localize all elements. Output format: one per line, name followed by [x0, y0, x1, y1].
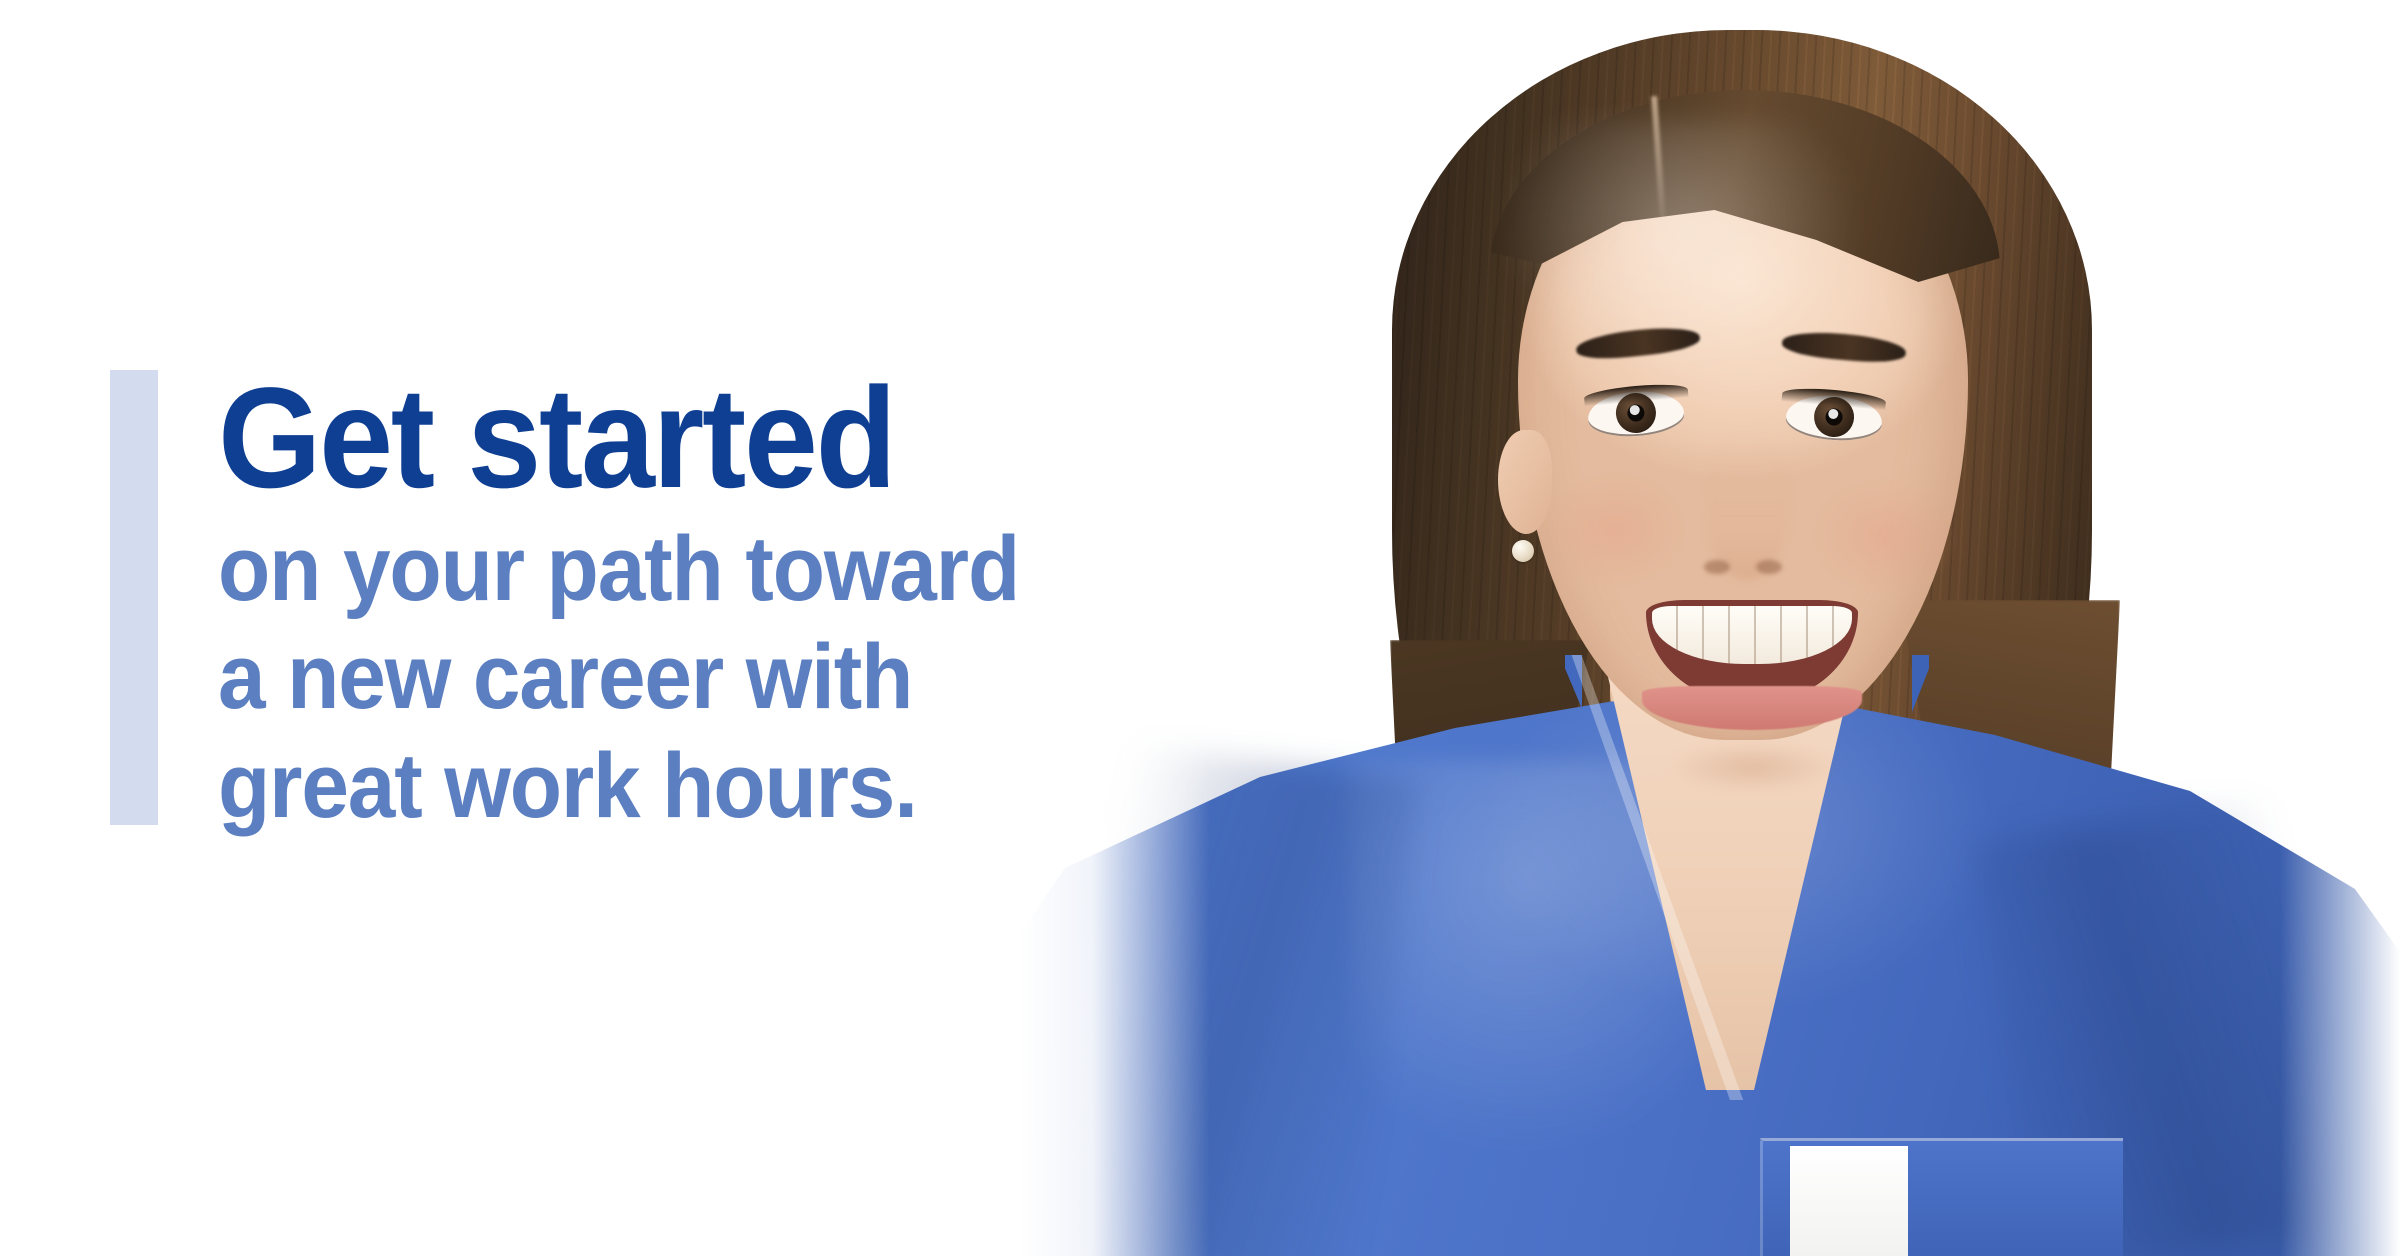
subtitle: on your path toward a new career with gr… [218, 515, 1159, 841]
subtitle-line-2: a new career with [218, 623, 1159, 732]
eye-glint-right [1828, 409, 1839, 420]
subtitle-line-1: on your path toward [218, 515, 1159, 624]
chin-shadow [1670, 742, 1836, 792]
eye-glint-left [1629, 405, 1640, 416]
hero-photo-nurse [1020, 0, 2400, 1256]
pocket-white-patch [1790, 1146, 1908, 1256]
earring [1512, 540, 1534, 562]
teeth-separations [1652, 606, 1852, 664]
page-title: Get started [218, 370, 1159, 509]
nostril-right [1756, 560, 1782, 574]
promo-banner: Get started on your path toward a new ca… [0, 0, 2400, 1256]
vertical-accent-bar [110, 370, 158, 825]
subtitle-line-3: great work hours. [218, 732, 1159, 841]
cheek-right [1810, 476, 1960, 596]
scrub-fold-left [1059, 744, 1420, 1256]
nose [1706, 430, 1788, 580]
nostril-left [1704, 560, 1730, 574]
cheek-left [1540, 470, 1690, 590]
